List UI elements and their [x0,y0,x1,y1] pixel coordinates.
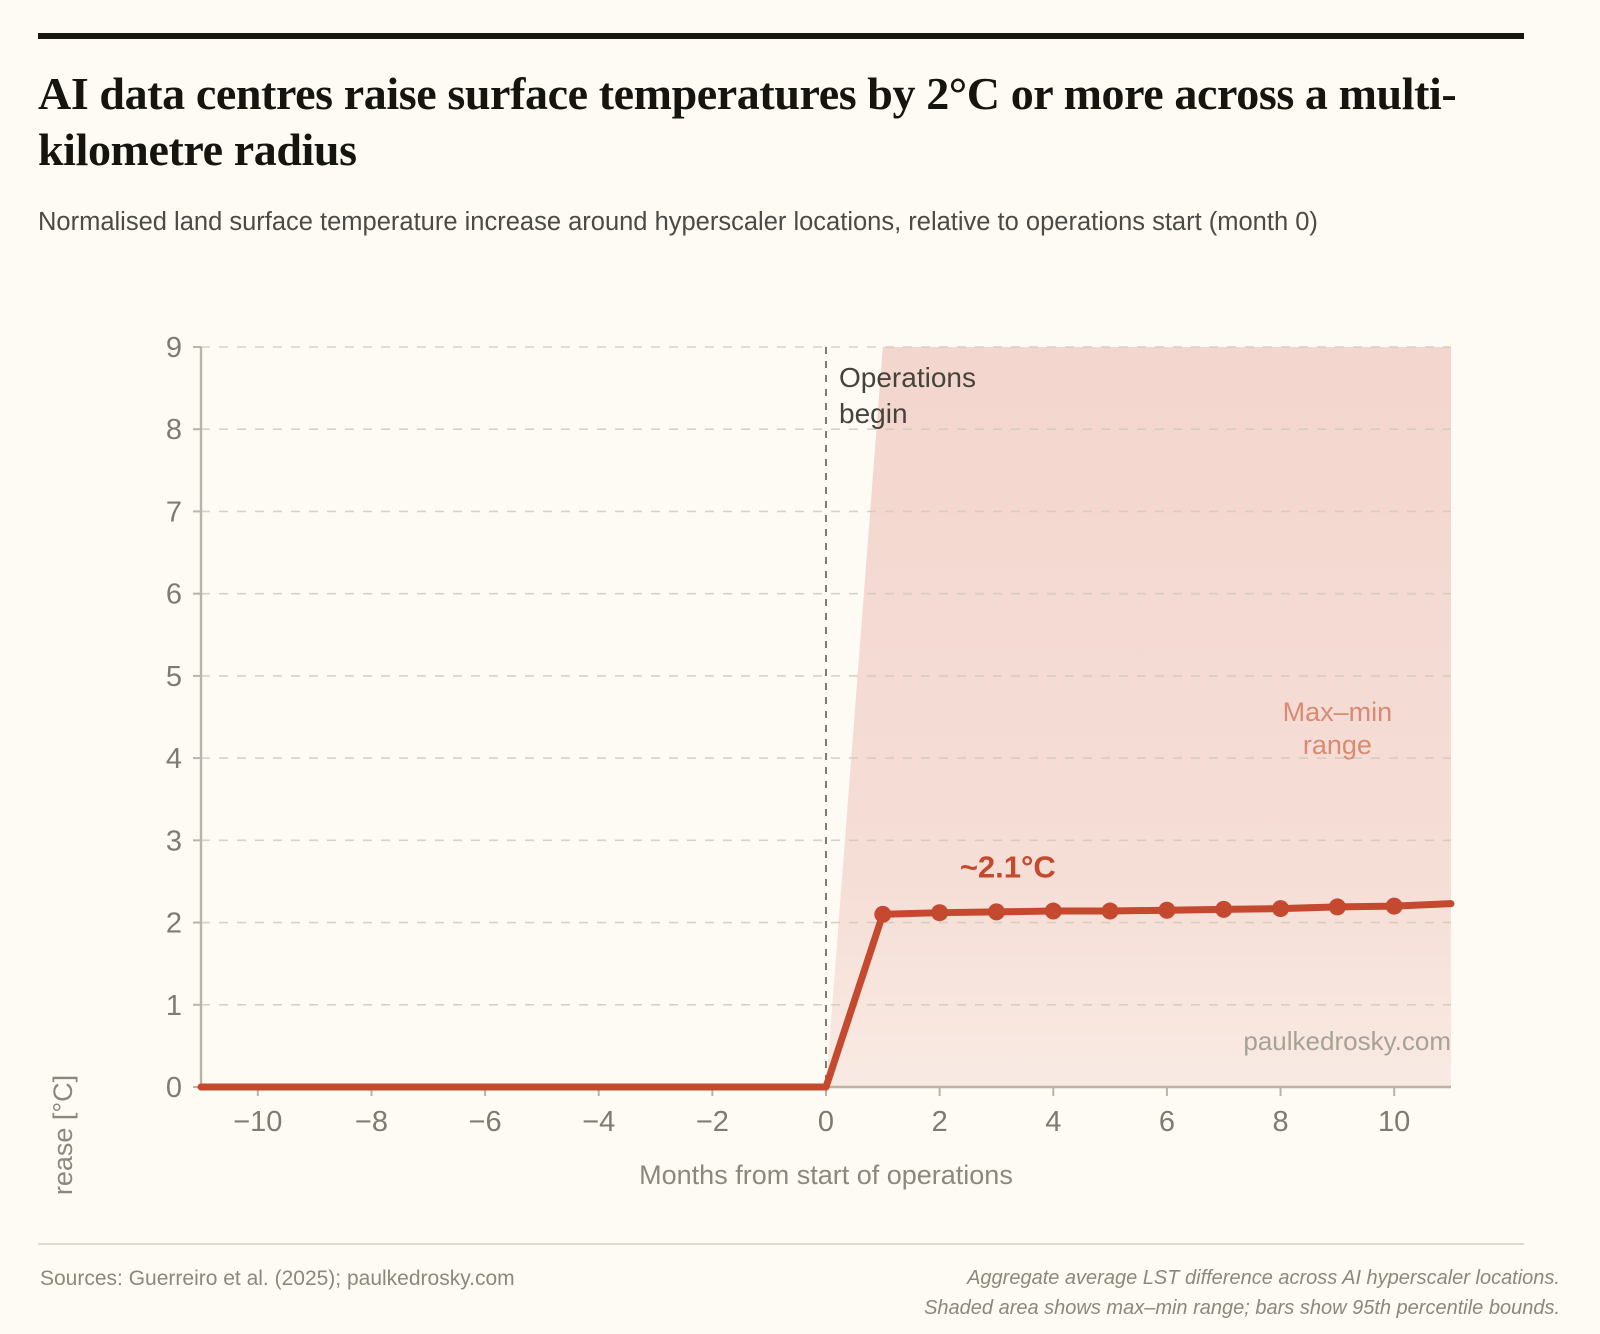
y-axis-title: rease [°C] [48,1075,78,1195]
y-tick-label: 7 [166,496,182,528]
x-axis-title: Months from start of operations [639,1160,1013,1190]
band-label-line-1: Max–min [1283,697,1393,727]
x-tick-label: −2 [696,1106,729,1138]
chart-page: AI data centres raise surface temperatur… [0,0,1600,1334]
data-point-marker [874,906,891,923]
y-tick-label: 0 [166,1072,182,1104]
chart-note-line-1: Aggregate average LST difference across … [924,1263,1560,1293]
y-tick-label: 2 [166,908,182,940]
x-tick-label: −6 [469,1106,502,1138]
y-tick-label: 1 [166,990,182,1022]
chart-note-line-2: Shaded area shows max–min range; bars sh… [924,1293,1560,1323]
value-callout-label: ~2.1°C [960,849,1056,884]
x-tick-label: 6 [1159,1106,1175,1138]
x-tick-label: 10 [1378,1106,1410,1138]
data-point-marker [1272,900,1289,917]
data-point-marker [1215,901,1232,918]
band-label-line-2: range [1303,730,1372,760]
chart-container: 0123456789−10−8−6−4−20246810Months from … [0,0,1600,1334]
chart-note: Aggregate average LST difference across … [924,1263,1560,1323]
x-tick-label: −10 [233,1106,282,1138]
x-tick-label: 0 [818,1106,834,1138]
data-point-marker [1158,902,1175,919]
data-point-marker [1329,898,1346,915]
operations-begin-label-line-2: begin [839,398,908,429]
x-tick-label: −4 [582,1106,615,1138]
line-chart: 0123456789−10−8−6−4−20246810Months from … [0,0,1600,1334]
y-tick-label: 8 [166,414,182,446]
x-tick-label: 2 [932,1106,948,1138]
y-tick-label: 3 [166,825,182,857]
y-tick-label: 6 [166,579,182,611]
watermark-label: paulkedrosky.com [1243,1026,1451,1056]
data-point-marker [1386,898,1403,915]
data-point-marker [988,903,1005,920]
operations-begin-label-line-1: Operations [839,362,976,393]
data-point-marker [1102,903,1119,920]
footer-divider [38,1243,1524,1245]
sources-label: Sources: Guerreiro et al. (2025); paulke… [40,1267,515,1291]
y-tick-label: 9 [166,332,182,364]
y-tick-label: 5 [166,661,182,693]
y-tick-label: 4 [166,743,182,775]
x-tick-label: 8 [1272,1106,1288,1138]
x-tick-label: 4 [1045,1106,1061,1138]
data-point-marker [1045,903,1062,920]
data-point-marker [931,904,948,921]
x-tick-label: −8 [355,1106,388,1138]
